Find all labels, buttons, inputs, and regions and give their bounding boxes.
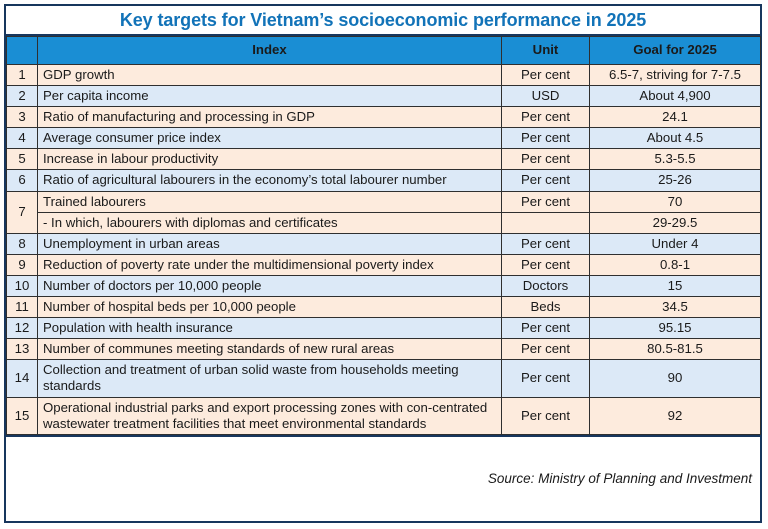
row-index-label: GDP growth	[38, 65, 502, 86]
row-unit: Per cent	[502, 339, 590, 360]
row-goal: 90	[590, 360, 761, 397]
row-goal: 15	[590, 275, 761, 296]
row-unit: Per cent	[502, 149, 590, 170]
row-unit: Per cent	[502, 107, 590, 128]
row-number: 13	[7, 339, 38, 360]
targets-table: Index Unit Goal for 2025 1 GDP growth Pe…	[6, 36, 761, 435]
row-index-label: Average consumer price index	[38, 128, 502, 149]
row-number: 11	[7, 297, 38, 318]
row-number: 12	[7, 318, 38, 339]
column-header-goal: Goal for 2025	[590, 37, 761, 65]
table-figure: Key targets for Vietnam’s socioeconomic …	[4, 4, 762, 523]
row-goal: 25-26	[590, 170, 761, 191]
row-index-label: Unemployment in urban areas	[38, 233, 502, 254]
row-goal: 29-29.5	[590, 212, 761, 233]
row-index-label: Number of doctors per 10,000 people	[38, 275, 502, 296]
row-unit: Beds	[502, 297, 590, 318]
row-number: 14	[7, 360, 38, 397]
source-text: Source: Ministry of Planning and Investm…	[488, 471, 752, 486]
table-row: 9 Reduction of poverty rate under the mu…	[7, 254, 761, 275]
figure-title-bar: Key targets for Vietnam’s socioeconomic …	[6, 6, 760, 36]
row-index-label: Population with health insurance	[38, 318, 502, 339]
row-number: 9	[7, 254, 38, 275]
row-index-label: Operational industrial parks and export …	[38, 397, 502, 434]
table-row: 12 Population with health insurance Per …	[7, 318, 761, 339]
page-title: Key targets for Vietnam’s socioeconomic …	[120, 10, 646, 31]
row-unit: Per cent	[502, 397, 590, 434]
row-goal: Under 4	[590, 233, 761, 254]
row-number: 3	[7, 107, 38, 128]
row-unit: Per cent	[502, 128, 590, 149]
table-row: 2 Per capita income USD About 4,900	[7, 86, 761, 107]
table-header-row: Index Unit Goal for 2025	[7, 37, 761, 65]
row-index-label: Number of communes meeting standards of …	[38, 339, 502, 360]
row-goal: About 4,900	[590, 86, 761, 107]
table-row: 10 Number of doctors per 10,000 people D…	[7, 275, 761, 296]
row-number: 15	[7, 397, 38, 434]
table-row: 6 Ratio of agricultural labourers in the…	[7, 170, 761, 191]
row-unit: Per cent	[502, 254, 590, 275]
column-header-unit: Unit	[502, 37, 590, 65]
row-number: 1	[7, 65, 38, 86]
table-row: 15 Operational industrial parks and expo…	[7, 397, 761, 434]
row-number: 8	[7, 233, 38, 254]
row-index-label: - In which, labourers with diplomas and …	[38, 212, 502, 233]
row-goal: 80.5-81.5	[590, 339, 761, 360]
table-row: 8 Unemployment in urban areas Per cent U…	[7, 233, 761, 254]
row-goal: 95.15	[590, 318, 761, 339]
table-subrow: - In which, labourers with diplomas and …	[7, 212, 761, 233]
row-goal: 5.3-5.5	[590, 149, 761, 170]
row-unit: Per cent	[502, 65, 590, 86]
row-number: 10	[7, 275, 38, 296]
column-header-no	[7, 37, 38, 65]
table-row: 13 Number of communes meeting standards …	[7, 339, 761, 360]
row-unit: Per cent	[502, 360, 590, 397]
row-unit: USD	[502, 86, 590, 107]
row-unit: Per cent	[502, 233, 590, 254]
row-goal: About 4.5	[590, 128, 761, 149]
source-bar: Source: Ministry of Planning and Investm…	[6, 435, 760, 521]
row-goal: 34.5	[590, 297, 761, 318]
table-row: 7 Trained labourers Per cent 70	[7, 191, 761, 212]
row-index-label: Number of hospital beds per 10,000 peopl…	[38, 297, 502, 318]
row-unit	[502, 212, 590, 233]
row-unit: Doctors	[502, 275, 590, 296]
row-goal: 24.1	[590, 107, 761, 128]
row-index-label: Increase in labour productivity	[38, 149, 502, 170]
table-row: 1 GDP growth Per cent 6.5-7, striving fo…	[7, 65, 761, 86]
row-goal: 70	[590, 191, 761, 212]
row-index-label: Trained labourers	[38, 191, 502, 212]
row-unit: Per cent	[502, 170, 590, 191]
row-index-label: Ratio of manufacturing and processing in…	[38, 107, 502, 128]
row-goal: 0.8-1	[590, 254, 761, 275]
row-index-label: Reduction of poverty rate under the mult…	[38, 254, 502, 275]
row-number: 7	[7, 191, 38, 233]
row-number: 5	[7, 149, 38, 170]
row-goal: 92	[590, 397, 761, 434]
row-index-label: Collection and treatment of urban solid …	[38, 360, 502, 397]
row-index-label: Ratio of agricultural labourers in the e…	[38, 170, 502, 191]
table-row: 3 Ratio of manufacturing and processing …	[7, 107, 761, 128]
row-number: 4	[7, 128, 38, 149]
row-unit: Per cent	[502, 318, 590, 339]
row-goal: 6.5-7, striving for 7-7.5	[590, 65, 761, 86]
table-row: 11 Number of hospital beds per 10,000 pe…	[7, 297, 761, 318]
column-header-index: Index	[38, 37, 502, 65]
table-header: Index Unit Goal for 2025	[7, 37, 761, 65]
table-row: 5 Increase in labour productivity Per ce…	[7, 149, 761, 170]
table-body: 1 GDP growth Per cent 6.5-7, striving fo…	[7, 65, 761, 435]
row-unit: Per cent	[502, 191, 590, 212]
table-row: 4 Average consumer price index Per cent …	[7, 128, 761, 149]
table-row: 14 Collection and treatment of urban sol…	[7, 360, 761, 397]
row-index-label: Per capita income	[38, 86, 502, 107]
row-number: 2	[7, 86, 38, 107]
row-number: 6	[7, 170, 38, 191]
